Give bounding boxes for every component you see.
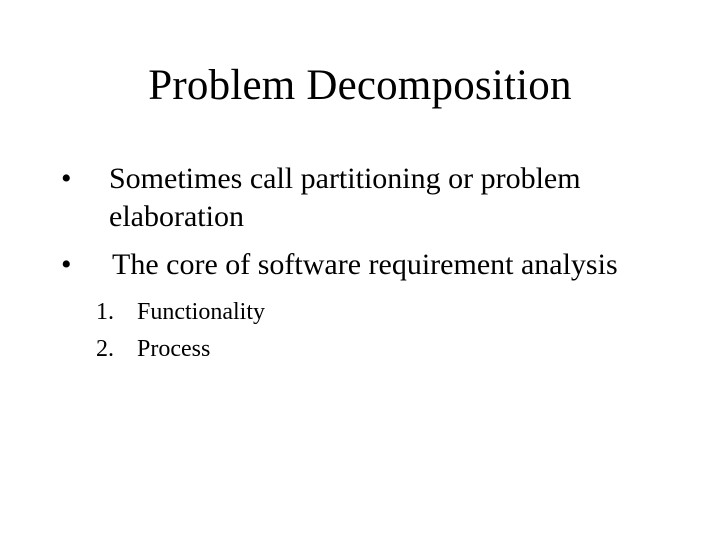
list-number-marker: 2. <box>96 331 130 368</box>
numbered-sub-list: 1. Functionality 2. Process <box>55 294 695 368</box>
bullet-item-2: • The core of software requirement analy… <box>55 246 695 284</box>
list-number-marker: 1. <box>96 294 130 331</box>
sub-list-item-1: 1. Functionality <box>55 294 695 331</box>
bullet-point-icon: • <box>61 160 81 198</box>
bullet-point-icon: • <box>61 246 81 284</box>
slide-body: • Sometimes call partitioning or problem… <box>55 160 695 368</box>
bullet-item-1: • Sometimes call partitioning or problem… <box>55 160 695 236</box>
sub-list-item-2-text: Process <box>137 331 210 368</box>
bullet-item-2-text: The core of software requirement analysi… <box>112 246 695 284</box>
bullet-item-1-text: Sometimes call partitioning or problem e… <box>109 160 629 236</box>
presentation-slide: Problem Decomposition • Sometimes call p… <box>0 0 720 540</box>
sub-list-item-2: 2. Process <box>55 331 695 368</box>
sub-list-item-1-text: Functionality <box>137 294 265 331</box>
slide-title: Problem Decomposition <box>60 62 660 110</box>
